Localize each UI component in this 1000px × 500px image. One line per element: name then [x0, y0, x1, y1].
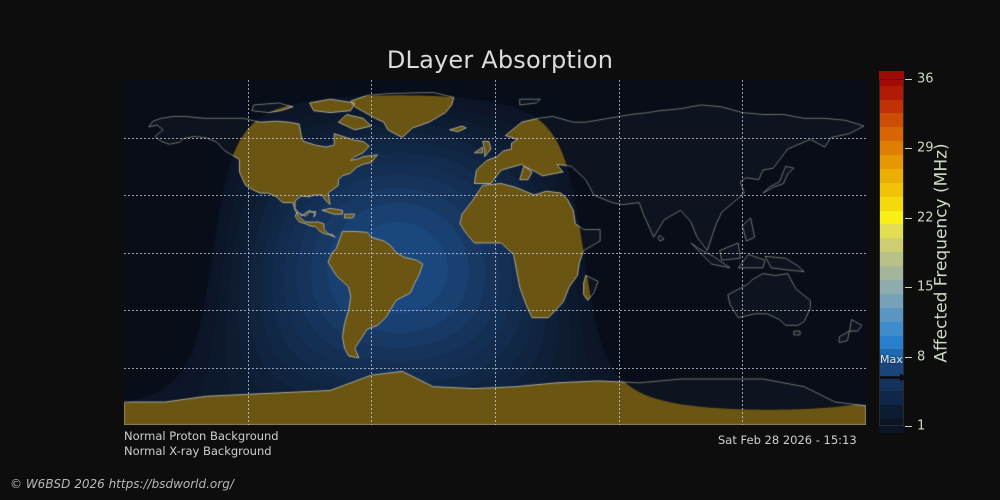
absorption-heatmap-canvas	[124, 80, 866, 425]
colorbar-axis-title-text: Affected Frequency (MHz)	[932, 143, 952, 362]
colorbar-tick	[905, 426, 912, 427]
max-marker-arrow-icon	[880, 367, 908, 376]
world-map[interactable]	[124, 80, 866, 425]
timestamp: Sat Feb 28 2026 - 15:13	[718, 433, 857, 447]
proton-status: Normal Proton Background	[124, 429, 279, 444]
colorbar-tick	[905, 357, 912, 358]
max-marker-label: Max	[880, 353, 903, 366]
chart-root: DLayer Absorption Max 1815222936 Affecte…	[0, 0, 1000, 500]
xray-status: Normal X-ray Background	[124, 444, 279, 459]
status-block: Normal Proton Background Normal X-ray Ba…	[124, 429, 279, 459]
colorbar[interactable]: Max 1815222936	[879, 79, 904, 426]
colorbar-axis-title: Affected Frequency (MHz)	[930, 79, 954, 426]
colorbar-tick	[905, 79, 912, 80]
colorbar-tick	[905, 218, 912, 219]
page-title: DLayer Absorption	[0, 46, 1000, 74]
colorbar-tick	[905, 148, 912, 149]
colorbar-tick-label: 8	[917, 349, 925, 364]
colorbar-tick	[905, 287, 912, 288]
credit-line: © W6BSD 2026 https://bsdworld.org/	[10, 477, 234, 491]
colorbar-tick-label: 1	[917, 419, 925, 434]
